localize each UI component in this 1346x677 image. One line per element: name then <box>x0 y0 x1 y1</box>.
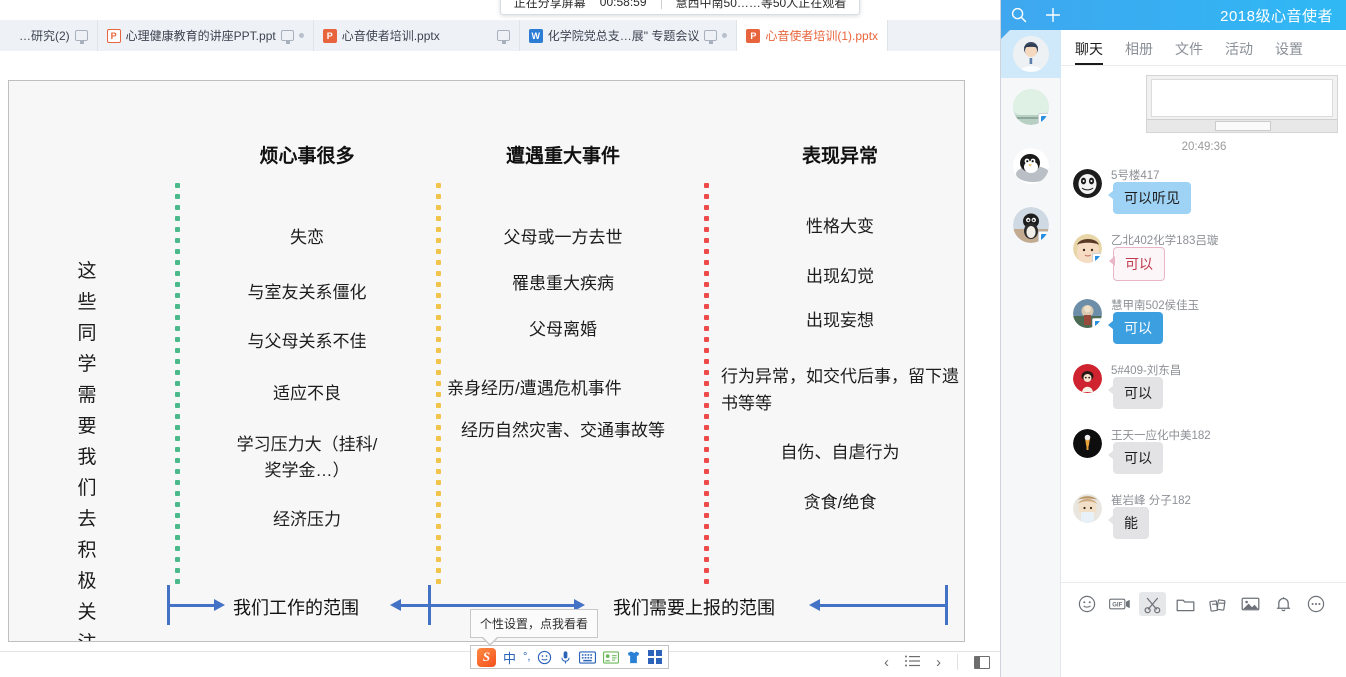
ime-chinese-mode-toggle[interactable]: 中 <box>503 648 516 667</box>
qq-session-avatar-3[interactable] <box>1013 207 1049 243</box>
dark-icecream-avatar[interactable] <box>1073 429 1102 458</box>
more-icon[interactable] <box>1302 592 1330 616</box>
slide-column-2: 遭遇重大事件 父母或一方去世 罹患重大疾病 父母离婚 亲身经历/遭遇危机事件 经… <box>447 143 679 444</box>
message-timestamp: 20:49:36 <box>1061 141 1346 153</box>
plus-icon[interactable] <box>1045 7 1061 23</box>
red-cartoon-avatar[interactable] <box>1073 364 1102 393</box>
qq-title-bar: 2018级心音使者 <box>1001 0 1346 30</box>
qq-tab-bar: 聊天 相册 文件 活动 设置 <box>1061 30 1346 66</box>
caption-char: 这 <box>67 256 107 287</box>
powerpoint-window: 正在分享屏幕 00:58:59 慧西中南50……等50人正在观看 …研究(2) … <box>0 0 1000 677</box>
ime-punctuation-toggle[interactable]: °, <box>523 651 530 663</box>
column-item: 性格大变 <box>715 215 965 239</box>
message-sender: 崔岩峰 分子182 <box>1111 492 1191 508</box>
column-item: 经济压力 <box>187 508 427 532</box>
screen: 正在分享屏幕 00:58:59 慧西中南50……等50人正在观看 …研究(2) … <box>0 0 1346 677</box>
powerpoint-icon: P <box>746 29 760 43</box>
monitor-icon[interactable] <box>497 30 510 41</box>
word-icon: W <box>529 29 543 43</box>
scope-tick-right <box>945 585 948 625</box>
tab-files[interactable]: 文件 <box>1175 39 1203 65</box>
status-divider <box>957 654 958 670</box>
share-status-text: 正在分享屏幕 <box>514 0 586 11</box>
gif-icon[interactable]: GIF <box>1106 592 1134 616</box>
bell-icon[interactable] <box>1270 592 1298 616</box>
column-item: 失恋 <box>187 226 427 250</box>
caption-char: 积 <box>67 535 107 566</box>
keyboard-icon[interactable] <box>579 651 596 664</box>
qq-session-rail <box>1001 30 1061 677</box>
pill-divider <box>661 0 662 9</box>
document-tab-label: 心音使者培训(1).pptx <box>765 27 878 44</box>
blank-icon <box>0 29 14 43</box>
column-item: 学习压力大（挂科/ 奖学金…） <box>187 432 427 484</box>
tab-settings[interactable]: 设置 <box>1275 39 1303 65</box>
device-badge-icon <box>1038 231 1049 243</box>
qq-message-list[interactable]: 20:49:36 <box>1061 67 1346 612</box>
document-tab-label: 化学院党总支…展" 专题会议 <box>548 27 700 44</box>
document-tab-bar: …研究(2) P 心理健康教育的讲座PPT.ppt P 心音使者培训.pptx … <box>0 20 1000 51</box>
message-sender: 5#409-刘东昌 <box>1111 362 1181 378</box>
tab-chat[interactable]: 聊天 <box>1075 39 1103 65</box>
panda-mask-avatar[interactable] <box>1073 169 1102 198</box>
message-sender: 慧甲南502侯佳玉 <box>1111 297 1199 313</box>
qq-session-avatar-2[interactable] <box>1013 148 1049 184</box>
divider-dotted-yellow <box>436 183 441 585</box>
tab-album[interactable]: 相册 <box>1125 39 1153 65</box>
message-bubble[interactable]: 可以 <box>1113 377 1163 409</box>
qq-input-toolbar: GIF <box>1061 582 1346 677</box>
divider-dotted-green <box>175 183 180 585</box>
column-item: 自伤、自虐行为 <box>715 441 965 465</box>
caption-char: 去 <box>67 504 107 535</box>
column-title: 遭遇重大事件 <box>447 143 679 170</box>
column-item: 出现妄想 <box>715 309 965 333</box>
user-card-icon[interactable] <box>603 651 619 664</box>
column-item: 父母离婚 <box>447 318 679 342</box>
divider-dotted-red <box>704 183 709 585</box>
arrowhead-right-1 <box>214 599 225 611</box>
caption-char: 些 <box>67 287 107 318</box>
previous-slide-button[interactable]: ‹ <box>884 655 889 670</box>
document-tab-label: 心音使者培训.pptx <box>342 27 440 44</box>
tab-activity[interactable]: 活动 <box>1225 39 1253 65</box>
column-item: 出现幻觉 <box>715 265 965 289</box>
portrait-avatar[interactable] <box>1073 234 1102 263</box>
monitor-icon[interactable] <box>281 30 294 41</box>
svg-text:GIF: GIF <box>1112 603 1122 609</box>
message-bubble[interactable]: 可以 <box>1113 247 1165 281</box>
caption-char: 我 <box>67 442 107 473</box>
rail-active-session[interactable] <box>1001 30 1061 78</box>
modified-dot-icon <box>722 33 727 38</box>
column-title: 烦心事很多 <box>187 143 427 170</box>
document-tab-0[interactable]: …研究(2) <box>0 20 98 51</box>
message-sender: 王天一应化中美182 <box>1111 427 1211 443</box>
caption-char: 们 <box>67 473 107 504</box>
image-icon[interactable] <box>1237 592 1265 616</box>
device-badge-icon <box>1092 253 1102 263</box>
caption-char: 学 <box>67 349 107 380</box>
message-bubble[interactable]: 可以 <box>1113 312 1163 344</box>
column-title: 表现异常 <box>715 143 965 170</box>
ime-settings-tooltip: 个性设置，点我看看 <box>470 609 598 638</box>
document-tab-3[interactable]: W 化学院党总支…展" 专题会议 <box>520 20 738 51</box>
document-tab-2[interactable]: P 心音使者培训.pptx <box>314 20 520 51</box>
thumbnail-body <box>1151 79 1333 117</box>
column-item: 亲身经历/遭遇危机事件 <box>447 376 679 402</box>
caption-char: 同 <box>67 318 107 349</box>
scope-line-3 <box>820 604 947 607</box>
scope-label-1: 我们工作的范围 <box>233 594 359 620</box>
message-bubble[interactable]: 能 <box>1113 507 1149 539</box>
device-badge-icon <box>1092 318 1102 328</box>
share-viewers-text: 慧西中南50……等50人正在观看 <box>676 0 847 11</box>
self-avatar[interactable] <box>1013 36 1049 72</box>
document-tab-1[interactable]: P 心理健康教育的讲座PPT.ppt <box>98 20 314 51</box>
scope-line-1 <box>167 604 215 607</box>
apps-icon[interactable] <box>648 650 662 664</box>
sogou-logo-icon[interactable]: S <box>477 648 496 667</box>
scissors-icon[interactable] <box>1139 592 1167 616</box>
emoji-icon[interactable] <box>1073 592 1101 616</box>
column-item: 行为异常，如交代后事，留下遗书等等 <box>715 363 965 417</box>
slide-navigation-controls: ‹ › <box>884 654 990 670</box>
column-item: 与室友关系僵化 <box>187 281 427 305</box>
document-tab-label: …研究(2) <box>19 27 70 44</box>
caption-char: 要 <box>67 411 107 442</box>
corner-marker-icon <box>1001 30 1010 39</box>
column-item: 罹患重大疾病 <box>447 272 679 296</box>
slide-column-3: 表现异常 性格大变 出现幻觉 出现妄想 行为异常，如交代后事，留下遗书等等 自伤… <box>715 143 965 515</box>
qq-group-title: 2018级心音使者 <box>1220 5 1333 26</box>
document-tab-label: 心理健康教育的讲座PPT.ppt <box>126 27 276 44</box>
powerpoint-outline-icon: P <box>107 29 121 43</box>
thumbnail-ime-chip <box>1215 121 1271 131</box>
monitor-icon[interactable] <box>75 30 88 41</box>
screen-share-status-pill: 正在分享屏幕 00:58:59 慧西中南50……等50人正在观看 <box>500 0 860 15</box>
arrowhead-left-3 <box>809 599 820 611</box>
search-icon[interactable] <box>1011 7 1027 23</box>
reading-view-icon[interactable] <box>974 656 990 669</box>
powerpoint-icon: P <box>323 29 337 43</box>
shirt-icon[interactable] <box>626 650 641 665</box>
smiley-icon[interactable] <box>537 650 552 665</box>
column-item: 与父母关系不佳 <box>187 330 427 354</box>
shake-icon[interactable] <box>1204 592 1232 616</box>
slide-stage: 这 些 同 学 需 要 我 们 去 积 极 关 注 <box>0 51 1000 651</box>
folder-icon[interactable] <box>1171 592 1199 616</box>
document-tab-4[interactable]: P 心音使者培训(1).pptx <box>737 20 888 51</box>
arrowhead-left-2 <box>390 599 401 611</box>
share-timer: 00:58:59 <box>600 0 647 9</box>
message-bubble[interactable]: 可以 <box>1113 442 1163 474</box>
column-item: 经历自然灾害、交通事故等 <box>447 418 679 444</box>
caption-char: 需 <box>67 380 107 411</box>
column-item: 父母或一方去世 <box>447 226 679 250</box>
next-slide-button[interactable]: › <box>936 655 941 670</box>
shared-screenshot-thumbnail[interactable] <box>1146 75 1338 133</box>
qq-chat-body: 聊天 相册 文件 活动 设置 20:49:36 <box>1061 30 1346 677</box>
photo-avatar[interactable] <box>1073 299 1102 328</box>
message-sender: 5号楼417 <box>1111 167 1160 183</box>
device-badge-icon <box>1038 113 1049 125</box>
sogou-ime-bar[interactable]: S 中 °, <box>470 645 669 669</box>
slide-column-1: 烦心事很多 失恋 与室友关系僵化 与父母关系不佳 适应不良 学习压力大（挂科/ … <box>187 143 427 532</box>
mask-girl-avatar[interactable] <box>1073 494 1102 523</box>
modified-dot-icon <box>299 33 304 38</box>
scope-tick-mid <box>428 585 431 625</box>
message-sender: 乙北402化学183吕璇 <box>1111 232 1218 248</box>
monitor-icon[interactable] <box>704 30 717 41</box>
slide-canvas[interactable]: 这 些 同 学 需 要 我 们 去 积 极 关 注 <box>8 80 965 642</box>
message-bubble[interactable]: 可以听见 <box>1113 182 1191 214</box>
scope-label-2: 我们需要上报的范围 <box>613 594 775 620</box>
qq-toolbar-row: GIF <box>1061 583 1346 616</box>
qq-session-avatar-1[interactable] <box>1013 89 1049 125</box>
mic-icon[interactable] <box>559 650 572 665</box>
qq-group-chat-window: 2018级心音使者 <box>1000 0 1346 677</box>
column-item: 贪食/绝食 <box>715 491 965 515</box>
column-item: 适应不良 <box>187 382 427 406</box>
list-icon[interactable] <box>905 655 920 670</box>
